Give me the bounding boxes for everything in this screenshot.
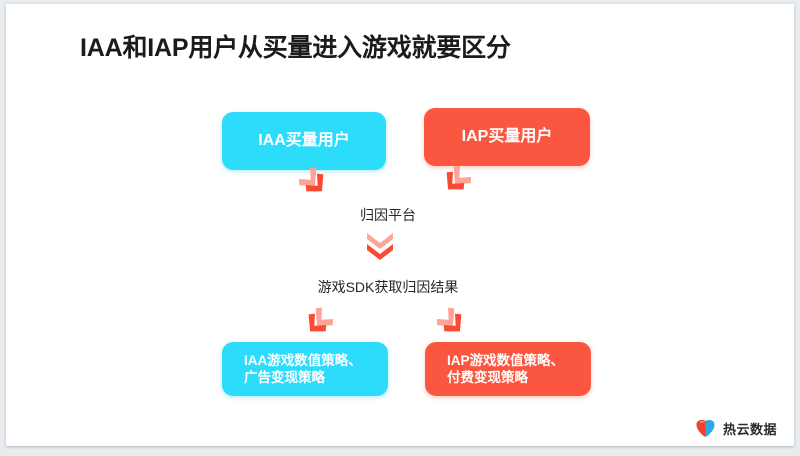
label-sdk-result: 游戏SDK获取归因结果 — [6, 277, 782, 297]
footer-logo: 热云数据 — [694, 418, 777, 438]
chevron-down-right-icon — [299, 167, 333, 201]
chevron-down-left-icon — [299, 307, 333, 341]
node-iap-users[interactable]: IAP买量用户 — [424, 108, 590, 166]
chevron-down-left-icon — [437, 165, 471, 199]
node-iap-strategy[interactable]: IAP游戏数值策略、 付费变现策略 — [425, 342, 591, 396]
node-iaa-strategy-label: IAA游戏数值策略、 广告变现策略 — [244, 352, 362, 387]
reyun-logo-icon — [694, 418, 716, 438]
slide-root: IAA和IAP用户从买量进入游戏就要区分 IAA买量用户 IAP买量用户 归因平… — [0, 0, 800, 456]
slide-canvas: IAA和IAP用户从买量进入游戏就要区分 IAA买量用户 IAP买量用户 归因平… — [6, 4, 794, 446]
node-iaa-users[interactable]: IAA买量用户 — [222, 112, 386, 170]
node-iap-users-label: IAP买量用户 — [462, 127, 553, 147]
footer-brand-name: 热云数据 — [723, 419, 777, 438]
page-title: IAA和IAP用户从买量进入游戏就要区分 — [80, 28, 511, 64]
chevron-down-icon — [363, 231, 397, 265]
node-iaa-users-label: IAA买量用户 — [258, 131, 350, 151]
node-iaa-strategy[interactable]: IAA游戏数值策略、 广告变现策略 — [222, 342, 388, 396]
chevron-down-right-icon — [437, 307, 471, 341]
label-attribution-platform: 归因平台 — [6, 205, 782, 225]
node-iap-strategy-label: IAP游戏数值策略、 付费变现策略 — [447, 352, 564, 387]
